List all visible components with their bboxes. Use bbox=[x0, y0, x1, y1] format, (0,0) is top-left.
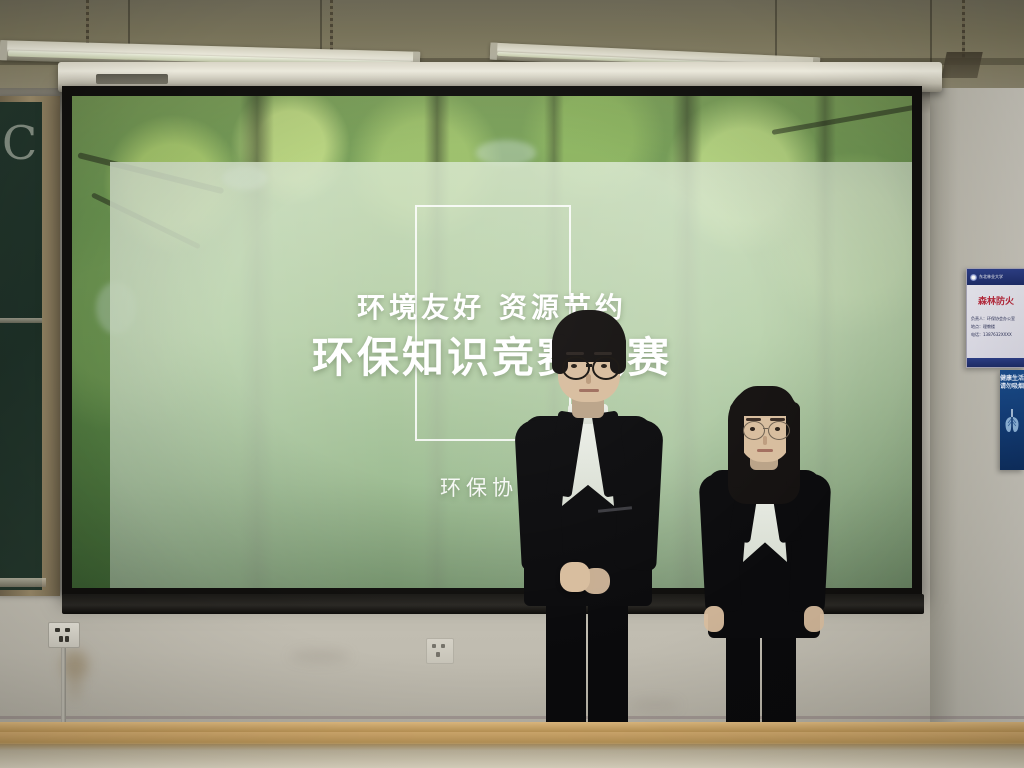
lungs-icon bbox=[1003, 408, 1021, 434]
housing-label bbox=[96, 74, 168, 84]
eyebrow bbox=[594, 352, 612, 355]
poster-org: 东北林业大学 bbox=[979, 274, 1003, 280]
poster-line1: 健康生活 bbox=[1000, 370, 1024, 383]
poster-footer-bar bbox=[967, 358, 1024, 367]
glasses-bridge bbox=[763, 428, 768, 429]
hanging-chain bbox=[962, 0, 965, 58]
hand bbox=[804, 606, 824, 632]
glasses-bridge bbox=[586, 364, 592, 367]
desk-edge bbox=[0, 722, 1024, 732]
network-power-outlet-left[interactable] bbox=[48, 622, 80, 648]
outlet-slot bbox=[441, 644, 445, 648]
glasses-lens-left bbox=[743, 421, 765, 440]
outlet-slot bbox=[65, 628, 70, 632]
blackboard bbox=[0, 102, 42, 590]
hand bbox=[582, 568, 610, 594]
outlet-slot bbox=[65, 636, 69, 642]
eye bbox=[775, 427, 780, 431]
wall-stain bbox=[290, 650, 350, 662]
poster-line: 地点：理教楼 bbox=[971, 323, 1021, 331]
outlet-slot bbox=[432, 644, 436, 648]
eyebrow bbox=[566, 352, 584, 355]
desk-surface-shadow bbox=[0, 744, 1024, 768]
mouth bbox=[579, 389, 599, 392]
hair-strand-left bbox=[730, 402, 744, 488]
poster-safety-notice[interactable]: 东北林业大学 森林防火 负责人：环保协会办公室 地点：理教楼 电话：138763… bbox=[966, 268, 1024, 368]
outlet-slot bbox=[59, 636, 63, 642]
poster-no-smoking[interactable]: 健康生活 请勿吸烟 bbox=[1000, 370, 1024, 470]
eye bbox=[750, 427, 755, 431]
tube-cap bbox=[490, 43, 498, 60]
chalk-mark: C bbox=[2, 116, 37, 170]
nose bbox=[586, 374, 591, 384]
tree-branch bbox=[772, 104, 912, 135]
poster-line: 负责人：环保协会办公室 bbox=[971, 315, 1021, 323]
hair-strand-right bbox=[786, 402, 800, 488]
hand bbox=[704, 606, 724, 632]
eye bbox=[571, 364, 577, 368]
slide-title: 环保知识竞赛决赛 bbox=[72, 324, 912, 385]
slide-kicker: 环境友好 资源节约 bbox=[72, 286, 912, 326]
presenter-right[interactable] bbox=[690, 378, 850, 768]
poster-line2: 请勿吸烟 bbox=[1000, 383, 1024, 391]
power-outlet-center[interactable] bbox=[426, 638, 454, 664]
presenter-left[interactable] bbox=[500, 300, 680, 768]
chalk-tray bbox=[0, 578, 46, 587]
blackboard-divider bbox=[0, 318, 42, 323]
poster-line: 电话：1387632XXXX bbox=[971, 331, 1021, 339]
outlet-slot bbox=[55, 628, 60, 632]
glasses-lens-right bbox=[592, 356, 620, 380]
glasses-lens-right bbox=[768, 421, 790, 440]
classroom-photo: C 环境友好 资源节约 环保知识竞赛决赛 环保协 bbox=[0, 0, 1024, 768]
poster-lines: 负责人：环保协会办公室 地点：理教楼 电话：1387632XXXX bbox=[967, 315, 1024, 339]
hanging-chain bbox=[330, 0, 333, 56]
wall-stain bbox=[70, 674, 80, 700]
ceiling-bracket bbox=[941, 52, 983, 78]
poster-header-bar: 东北林业大学 bbox=[967, 269, 1024, 285]
nose bbox=[763, 436, 767, 445]
wall-conduit bbox=[61, 640, 66, 722]
university-emblem-icon bbox=[970, 274, 977, 281]
mouth bbox=[757, 449, 773, 452]
tube-cap bbox=[0, 40, 7, 60]
outlet-slot bbox=[436, 652, 440, 657]
poster-headline: 森林防火 bbox=[967, 294, 1024, 307]
eye bbox=[601, 364, 607, 368]
